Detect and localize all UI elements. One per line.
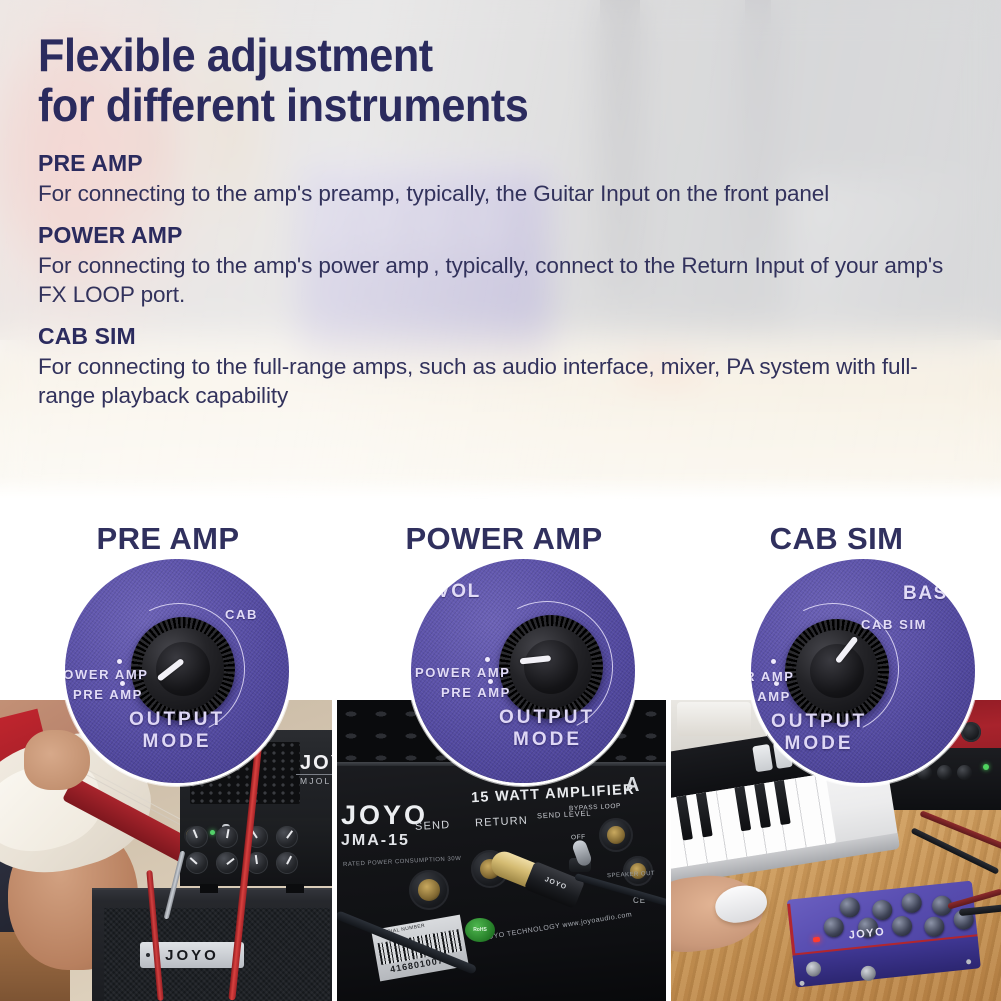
photo3-pedal-knob [871, 899, 893, 921]
photo3-pedal-knob [901, 892, 923, 914]
photo1-amp-knob-row-top [186, 826, 298, 848]
feature-heading-pre-amp: PRE AMP [38, 148, 978, 178]
photo3-interface-led [983, 764, 989, 770]
photo1-amp-knob [186, 826, 208, 848]
column-title-cab-sim: CAB SIM [672, 521, 1001, 557]
photo1-amp-feet [200, 884, 320, 893]
feature-heading-power-amp: POWER AMP [38, 220, 978, 250]
knob-cap [524, 640, 578, 694]
hero-section: Flexible adjustment for different instru… [0, 0, 1001, 502]
knob-output-mode-caption: OUTPUT MODE [65, 709, 289, 754]
knob-callout-power-amp: VOL POWER AMP PRE AMP OUTPUT MODE [408, 556, 638, 786]
knob-label-pre-amp: PRE AMP [748, 689, 791, 704]
knob-output-mode-caption: OUTPUT MODE [431, 707, 638, 752]
photo3-keyboard-black-key [734, 786, 751, 831]
knob-position-dot-power-amp [117, 659, 122, 664]
photo3-keyboard-black-key [676, 796, 693, 841]
knob-label-cab-sim: CAB SIM [861, 617, 927, 632]
knob-output-mode-caption: OUTPUT MODE [748, 711, 931, 756]
knob-label-power-amp: POWER AMP [62, 667, 149, 682]
column-title-power-amp: POWER AMP [336, 521, 672, 557]
photo2-label-send: SEND [415, 819, 451, 833]
knob-output-mode-line-1: OUTPUT [771, 711, 867, 732]
photo1-amp-knob [186, 852, 208, 874]
photo3-pedal-knob [891, 915, 913, 937]
hero-content: Flexible adjustment for different instru… [38, 30, 978, 422]
photo1-amp-knob [276, 852, 298, 874]
knob-callout-cab-sim: BASS CAB SIM POWER AMP PRE AMP OUTPUT MO… [748, 556, 978, 786]
photo1-amp-brand-rule [296, 774, 332, 775]
photo3-joyo-pedal: JOYO [787, 881, 982, 992]
photo1-amp-model: MJOLNIR [300, 776, 332, 786]
feature-body-cab-sim: For connecting to the full-range amps, s… [38, 352, 973, 410]
knob-position-dot-power-amp [485, 657, 490, 662]
knob-label-pre-amp: PRE AMP [441, 685, 511, 700]
knob-output-mode-line-2: MODE [143, 731, 212, 752]
knob-cap [810, 644, 864, 698]
photo1-amp-knob [276, 826, 298, 848]
output-mode-knob-cab-sim[interactable] [785, 619, 889, 723]
photo3-pedal-led-left [813, 937, 820, 943]
photo2-send-jack [409, 870, 449, 910]
knob-output-mode-line-1: OUTPUT [129, 709, 225, 730]
photo1-amp-knob [216, 826, 238, 848]
knob-cap [156, 642, 210, 696]
knob-label-bass: BASS [903, 583, 962, 605]
column-title-pre-amp: PRE AMP [0, 521, 336, 557]
photo3-pedal-knob [823, 916, 845, 938]
photo3-pedal-knob [839, 896, 861, 918]
knob-position-dot-power-amp [771, 659, 776, 664]
knob-label-power-amp: POWER AMP [415, 665, 511, 680]
photo1-amp-brand: JOYO [300, 752, 332, 775]
photo2-model: JMA-15 [341, 832, 410, 850]
feature-block-power-amp: POWER AMP For connecting to the amp's po… [38, 220, 978, 309]
page-title-line-1: Flexible adjustment [38, 29, 433, 81]
feature-block-pre-amp: PRE AMP For connecting to the amp's prea… [38, 148, 978, 208]
product-feature-page: Flexible adjustment for different instru… [0, 0, 1001, 1001]
feature-body-pre-amp: For connecting to the amp's preamp, typi… [38, 179, 973, 208]
photo3-keyboard-black-key [696, 792, 713, 837]
knob-callout-pre-amp: POWER AMP PRE AMP CAB OUTPUT MODE [62, 556, 292, 786]
photo2-speaker-jack-1-hole [607, 826, 625, 844]
feature-heading-cab-sim: CAB SIM [38, 321, 978, 351]
page-title-line-2: for different instruments [38, 80, 922, 130]
feature-body-power-amp: For connecting to the amp's power amp , … [38, 251, 973, 309]
hero-bottom-fade [0, 476, 1001, 502]
knob-output-mode-line-2: MODE [513, 729, 582, 750]
knob-label-power-amp: POWER AMP [748, 669, 795, 684]
photo1-cabinet-badge-screw-left [146, 953, 150, 957]
knob-label-vol: VOL [437, 581, 481, 603]
photo2-send-jack-hole [418, 879, 440, 901]
photo3-white-box [677, 702, 751, 736]
knob-output-mode-line-1: OUTPUT [499, 707, 595, 728]
knob-output-mode-line-2: MODE [785, 733, 854, 754]
photo2-speaker-jack-1 [599, 818, 633, 852]
photo3-keyboard-black-key [774, 780, 791, 825]
feature-block-cab-sim: CAB SIM For connecting to the full-range… [38, 321, 978, 410]
photo2-rohs-badge: RoHS [465, 918, 495, 942]
photo1-amp-knob [216, 852, 238, 874]
knob-label-pre-amp: PRE AMP [73, 687, 143, 702]
output-mode-knob-power-amp[interactable] [499, 615, 603, 719]
page-title: Flexible adjustment for different instru… [38, 30, 922, 130]
knob-label-cab-sim: CAB [225, 607, 258, 622]
photo3-keyboard-black-key [754, 783, 771, 828]
